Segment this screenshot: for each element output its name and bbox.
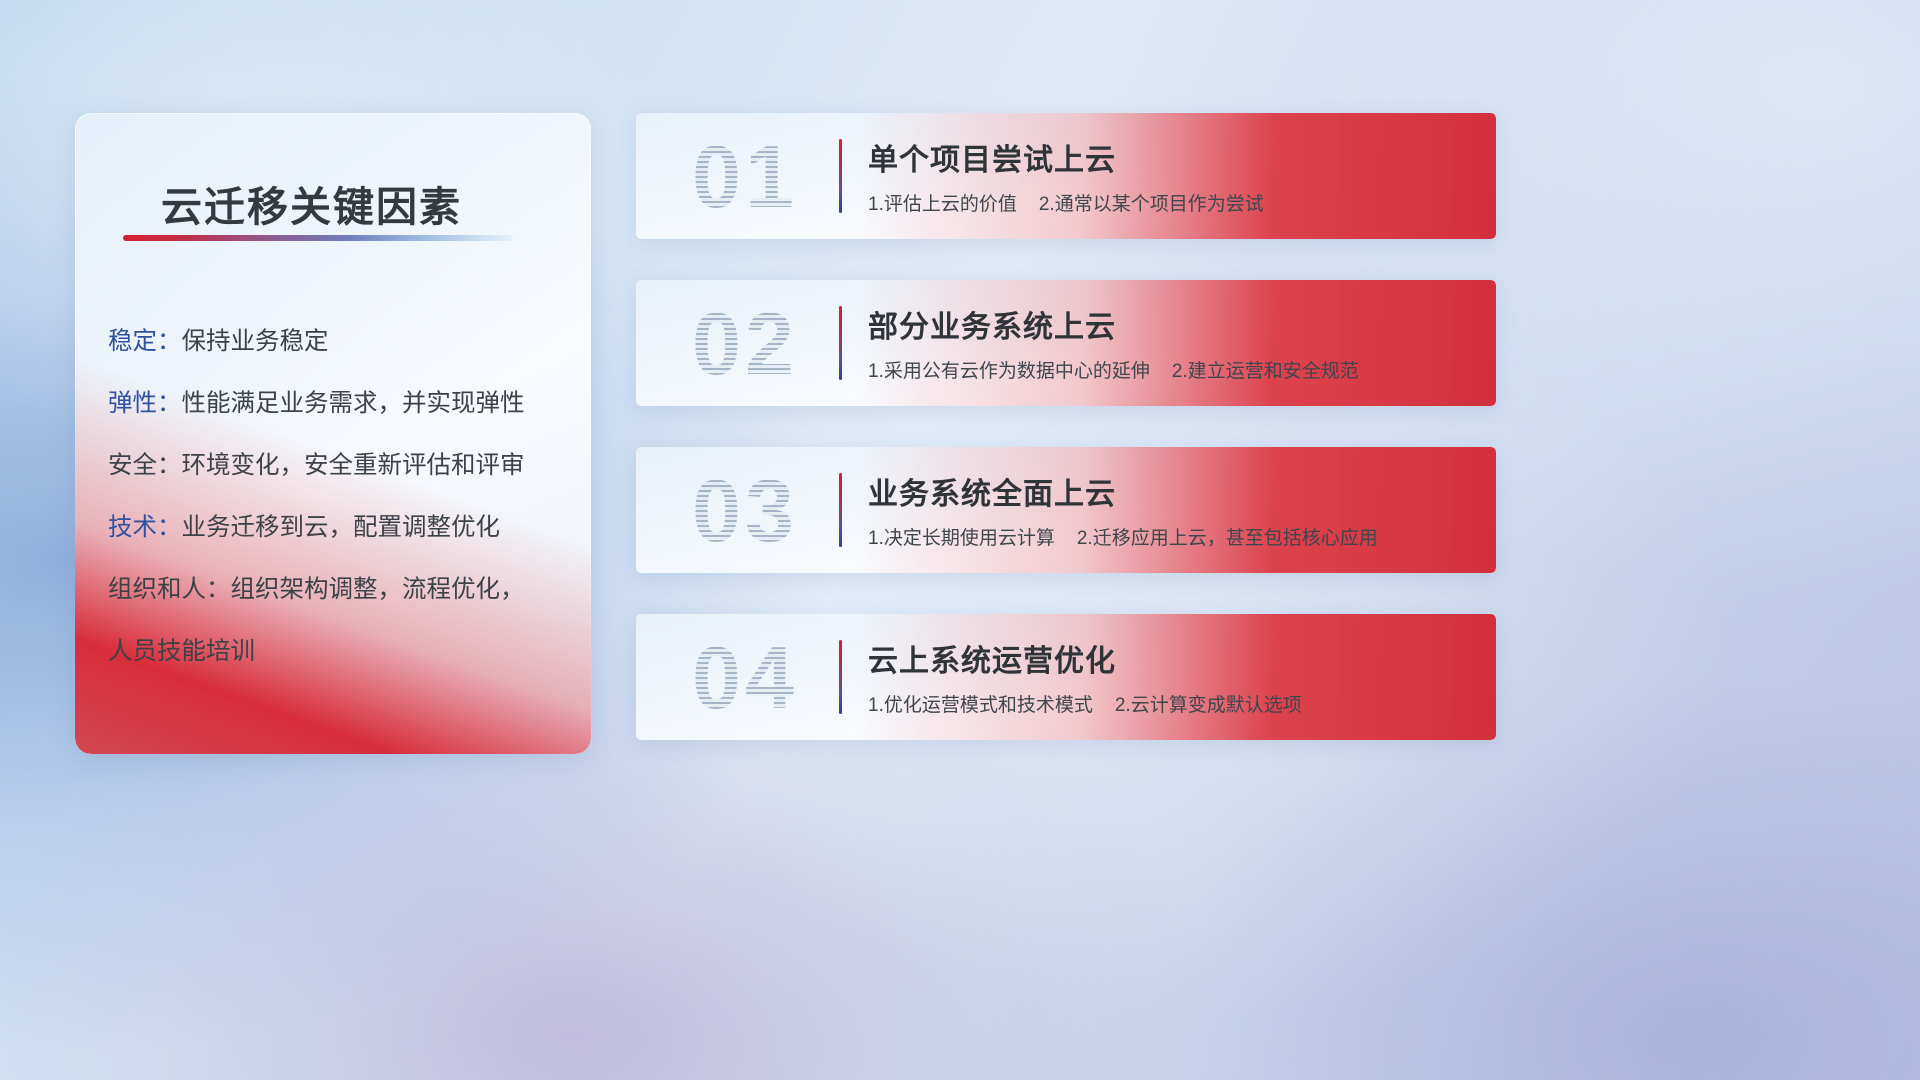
stage-card[interactable]: 02 02 部分业务系统上云 1.采用公有云作为数据中心的延伸2.建立运营和安全… <box>636 280 1496 406</box>
factor-text: 性能满足业务需求，并实现弹性 <box>182 390 525 417</box>
stage-title: 单个项目尝试上云 <box>868 135 1116 179</box>
title-underline-rule <box>123 235 513 241</box>
stage-card[interactable]: 03 03 业务系统全面上云 1.决定长期使用云计算2.迁移应用上云，甚至包括核… <box>636 447 1496 573</box>
stage-title: 业务系统全面上云 <box>868 469 1116 513</box>
factor-text: 保持业务稳定 <box>182 328 329 355</box>
stage-card-list: 01 01 单个项目尝试上云 1.评估上云的价值2.通常以某个项目作为尝试 02… <box>636 113 1496 781</box>
key-factors-panel: 云迁移关键因素 稳定：保持业务稳定 弹性：性能满足业务需求，并实现弹性 安全：环… <box>75 113 591 754</box>
factor-label: 技术： <box>108 514 182 541</box>
factor-label: 稳定： <box>108 328 182 355</box>
stage-divider-bar <box>839 139 842 213</box>
stage-point-1: 1.采用公有云作为数据中心的延伸 <box>868 361 1150 382</box>
list-item: 稳定：保持业务稳定 <box>108 311 573 373</box>
factor-text: 人员技能培训 <box>108 638 255 665</box>
factor-label: 组织和人： <box>108 576 231 603</box>
stage-number: 02 <box>660 288 830 400</box>
stage-divider-bar <box>839 640 842 714</box>
page-title: 云迁移关键因素 <box>161 173 462 233</box>
list-item-continuation: 人员技能培训 <box>108 621 573 683</box>
factor-label: 弹性： <box>108 390 182 417</box>
stage-card[interactable]: 04 04 云上系统运营优化 1.优化运营模式和技术模式2.云计算变成默认选项 <box>636 614 1496 740</box>
stage-divider-bar <box>839 473 842 547</box>
list-item: 组织和人：组织架构调整，流程优化， <box>108 559 573 621</box>
stage-point-2: 2.迁移应用上云，甚至包括核心应用 <box>1077 528 1378 549</box>
factor-text: 业务迁移到云，配置调整优化 <box>182 514 501 541</box>
stage-point-2: 2.建立运营和安全规范 <box>1172 361 1359 382</box>
list-item: 弹性：性能满足业务需求，并实现弹性 <box>108 373 573 435</box>
factor-text: 组织架构调整，流程优化， <box>231 576 525 603</box>
stage-point-2: 2.云计算变成默认选项 <box>1115 695 1302 716</box>
stage-point-1: 1.评估上云的价值 <box>868 194 1017 215</box>
factor-text: 环境变化，安全重新评估和评审 <box>182 452 525 479</box>
stage-point-1: 1.决定长期使用云计算 <box>868 528 1055 549</box>
key-factor-list: 稳定：保持业务稳定 弹性：性能满足业务需求，并实现弹性 安全：环境变化，安全重新… <box>108 311 573 683</box>
stage-point-1: 1.优化运营模式和技术模式 <box>868 695 1093 716</box>
stage-card[interactable]: 01 01 单个项目尝试上云 1.评估上云的价值2.通常以某个项目作为尝试 <box>636 113 1496 239</box>
stage-number: 01 <box>660 121 830 233</box>
stage-points: 1.决定长期使用云计算2.迁移应用上云，甚至包括核心应用 <box>868 523 1378 550</box>
stage-point-2: 2.通常以某个项目作为尝试 <box>1039 194 1264 215</box>
stage-title: 云上系统运营优化 <box>868 636 1116 680</box>
list-item: 技术：业务迁移到云，配置调整优化 <box>108 497 573 559</box>
stage-points: 1.优化运营模式和技术模式2.云计算变成默认选项 <box>868 690 1302 717</box>
stage-divider-bar <box>839 306 842 380</box>
stage-number: 04 <box>660 622 830 734</box>
stage-points: 1.采用公有云作为数据中心的延伸2.建立运营和安全规范 <box>868 356 1359 383</box>
stage-points: 1.评估上云的价值2.通常以某个项目作为尝试 <box>868 189 1264 216</box>
list-item: 安全：环境变化，安全重新评估和评审 <box>108 435 573 497</box>
factor-label: 安全： <box>108 452 182 479</box>
stage-title: 部分业务系统上云 <box>868 302 1116 346</box>
stage-number: 03 <box>660 455 830 567</box>
